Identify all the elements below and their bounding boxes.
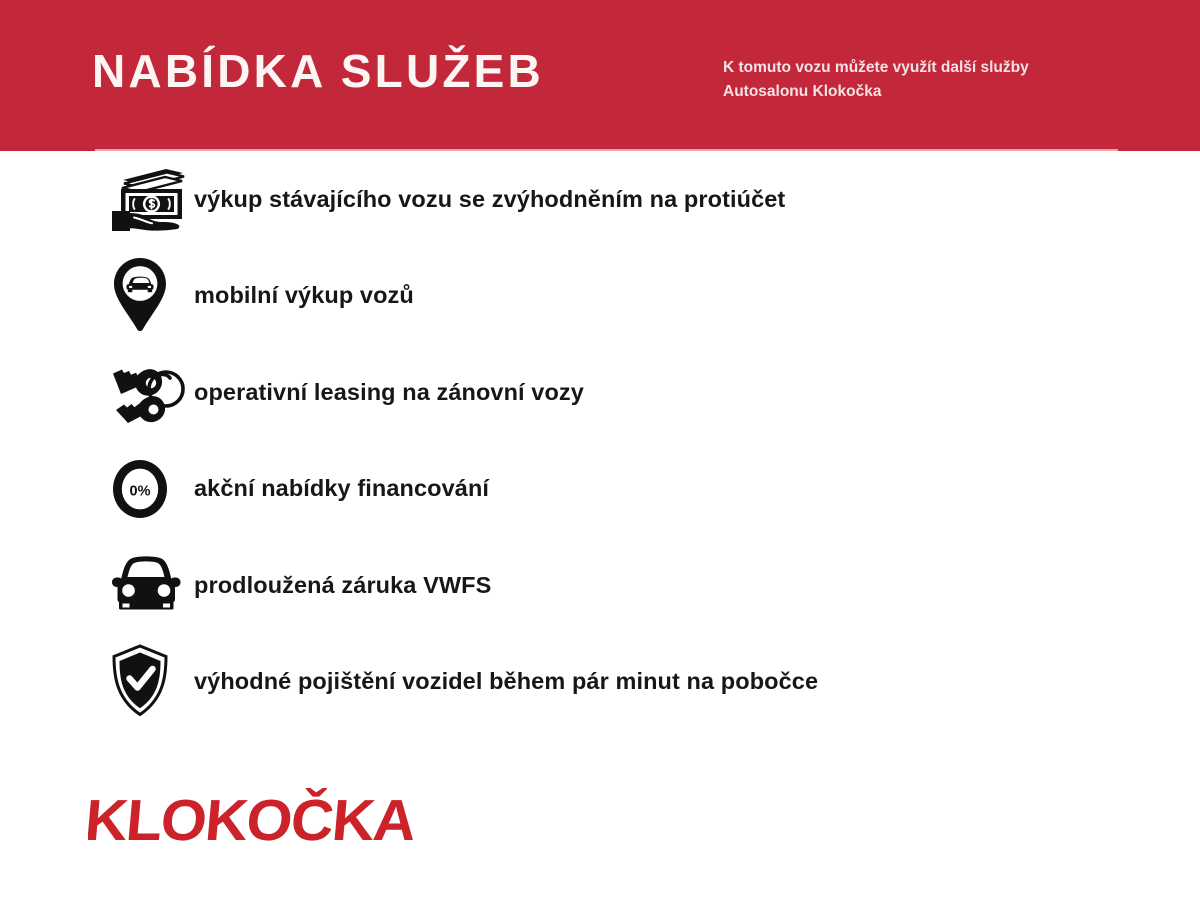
klokocka-logo-mark: KLOKOČKA (88, 788, 478, 854)
service-list: výkup stávajícího vozu se zvýhodněním na… (0, 151, 1200, 730)
list-item-label: mobilní výkup vozů (194, 282, 414, 309)
zero-percent-label: 0% (130, 483, 151, 499)
klokocka-logo: KLOKOČKA (88, 785, 478, 857)
klokocka-logo-text: KLOKOČKA (88, 788, 418, 853)
list-item-label: výhodné pojištění vozidel během pár minu… (194, 668, 818, 695)
list-item: výkup stávajícího vozu se zvýhodněním na… (0, 151, 1200, 248)
car-keys-icon (110, 351, 206, 433)
shield-check-icon (110, 641, 206, 723)
header-band: NABÍDKA SLUŽEB K tomuto vozu můžete využ… (0, 0, 1200, 151)
hand-holding-money-icon (110, 158, 206, 240)
header-subtitle-line-1: K tomuto vozu můžete využít další služby (723, 56, 1123, 80)
list-item: výhodné pojištění vozidel během pár minu… (0, 634, 1200, 731)
car-front-icon (110, 544, 206, 626)
page-title: NABÍDKA SLUŽEB (92, 48, 544, 94)
list-item-label: operativní leasing na zánovní vozy (194, 379, 584, 406)
header-subtitle-line-2: Autosalonu Klokočka (723, 80, 1123, 104)
list-item-label: výkup stávajícího vozu se zvýhodněním na… (194, 186, 785, 213)
list-item: operativní leasing na zánovní vozy (0, 344, 1200, 441)
list-item-label: akční nabídky financování (194, 475, 489, 502)
list-item: prodloužená záruka VWFS (0, 537, 1200, 634)
list-item-label: prodloužená záruka VWFS (194, 572, 491, 599)
service-offer-slide: NABÍDKA SLUŽEB K tomuto vozu můžete využ… (0, 0, 1200, 899)
zero-percent-circle-icon: 0% (110, 448, 206, 530)
header-subtitle: K tomuto vozu můžete využít další služby… (723, 56, 1123, 104)
map-pin-car-icon (110, 255, 206, 337)
list-item: 0% akční nabídky financování (0, 441, 1200, 538)
list-item: mobilní výkup vozů (0, 248, 1200, 345)
